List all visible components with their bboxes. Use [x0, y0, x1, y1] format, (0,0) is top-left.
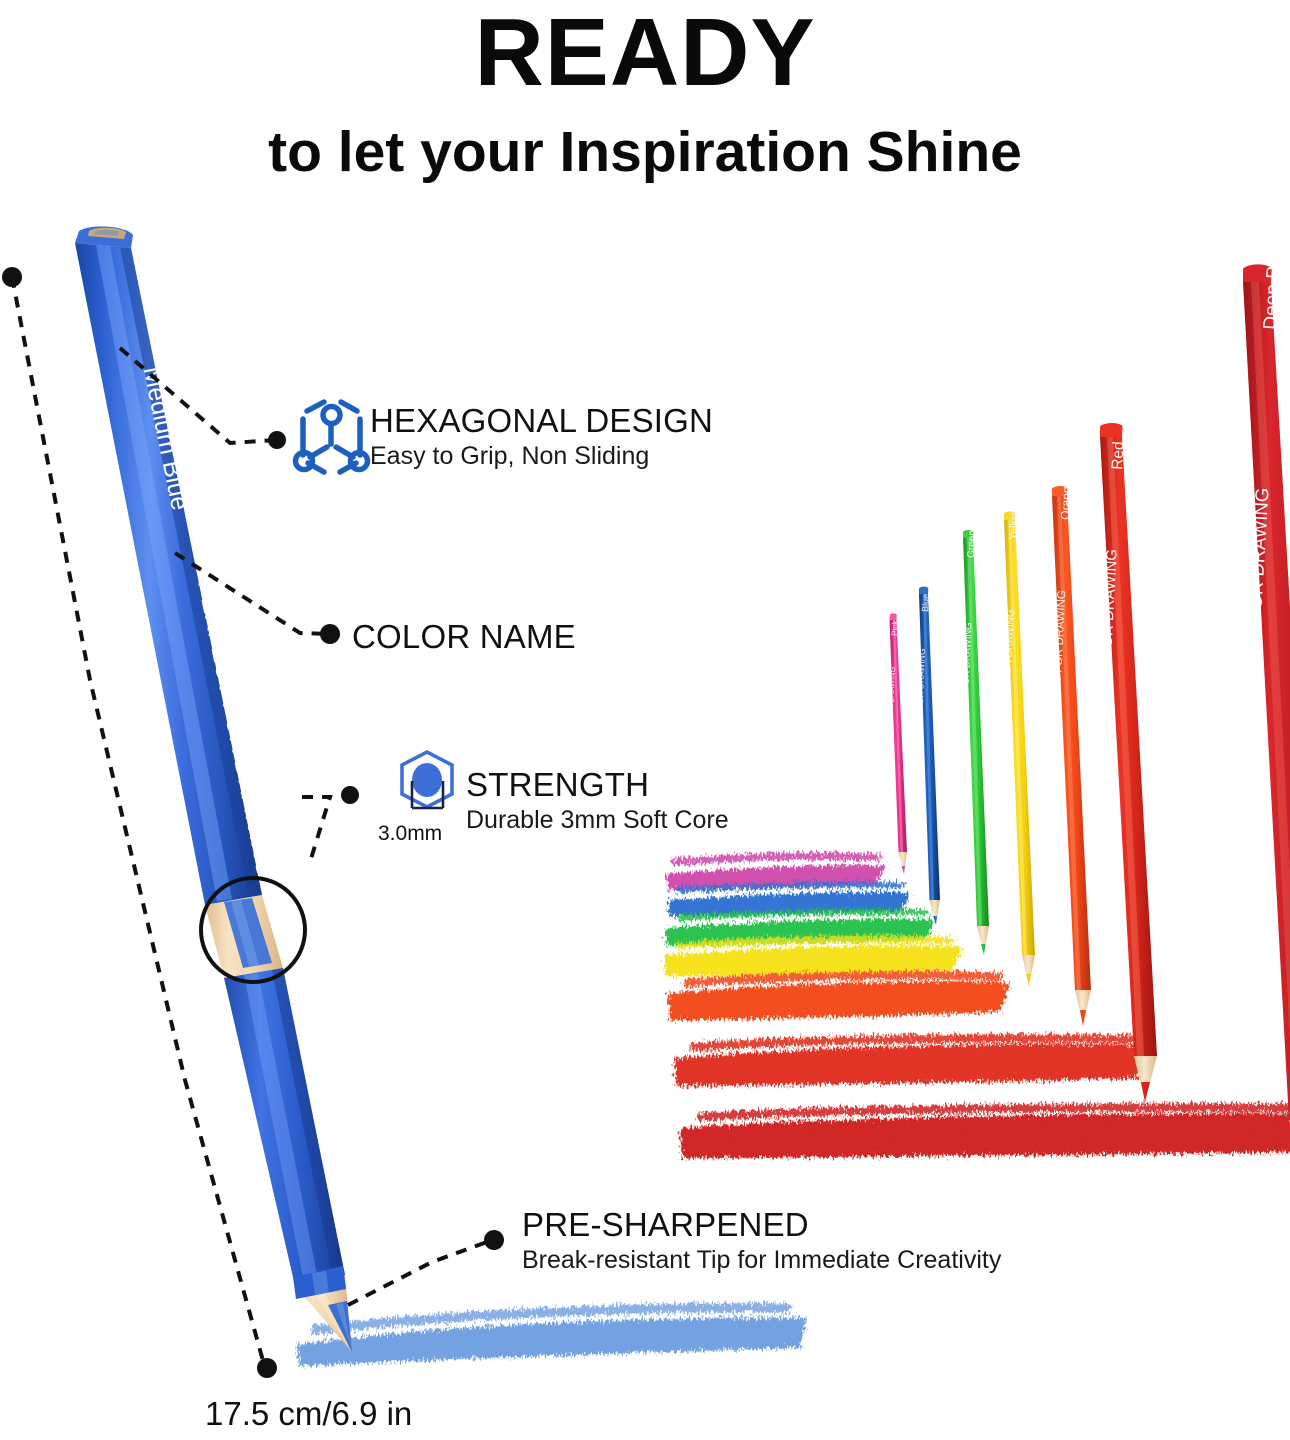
callout-pre-sharpened: PRE-SHARPENED Break-resistant Tip for Im…	[522, 1208, 1001, 1274]
pencil-colorname-deep-peach-red: Deep Peach Red	[1260, 185, 1290, 331]
pencil-colorname-pink: Pink	[890, 619, 900, 636]
callout-subtitle: Durable 3mm Soft Core	[466, 806, 729, 835]
callout-title: HEXAGONAL DESIGN	[370, 404, 713, 439]
pencil-colorname-green: Green	[966, 530, 978, 558]
hexagon-molecule-icon	[296, 402, 368, 472]
dot-strength	[341, 786, 359, 804]
leader-strength	[302, 797, 330, 862]
pencil-yellow: PERFECT FOR DRAWING Yellow	[1000, 509, 1035, 986]
callout-subtitle: Easy to Grip, Non Sliding	[370, 442, 713, 471]
pencil-colorname-yellow: Yellow	[1007, 509, 1020, 540]
callout-strength: STRENGTH Durable 3mm Soft Core	[466, 768, 729, 834]
pencil-green: PERFECT FOR DRAWING Green	[959, 530, 989, 955]
pencil-pink: PERFECT FOR DRAWING Pink	[884, 613, 907, 874]
callout-title: STRENGTH	[466, 768, 729, 803]
callout-subtitle: Break-resistant Tip for Immediate Creati…	[522, 1246, 1001, 1275]
leader-pre-sharpened	[348, 1242, 487, 1305]
callout-color-name: COLOR NAME	[352, 620, 576, 655]
dot-hexagonal-design	[268, 431, 286, 449]
pencil-length-label: 17.5 cm/6.9 in	[205, 1395, 412, 1433]
hexagon-core-icon	[402, 752, 452, 808]
callout-hexagonal-design: HEXAGONAL DESIGN Easy to Grip, Non Slidi…	[370, 404, 713, 470]
pencil-colorname-blue: Blue	[920, 594, 931, 612]
pencil-orange-red: PERFECT FOR DRAWING Orange Red	[1050, 454, 1091, 1026]
callout-title: COLOR NAME	[352, 620, 576, 655]
dot-color-name	[320, 624, 340, 644]
pencil-deep-peach-red: PERFECT FOR DRAWING Deep Peach Red	[1238, 185, 1290, 1175]
core-size-label: 3.0mm	[378, 822, 442, 846]
dot-pre-sharpened	[484, 1230, 504, 1250]
pencil-red: PERFECT FOR DRAWING Red	[1094, 423, 1157, 1102]
dot-length-top	[2, 267, 22, 287]
core-dot	[412, 763, 442, 797]
callout-title: PRE-SHARPENED	[522, 1208, 1001, 1243]
pencil-colorname-red: Red	[1109, 441, 1127, 470]
dot-length-bottom	[257, 1358, 277, 1378]
infographic-canvas: READY to let your Inspiration Shine	[0, 0, 1290, 1440]
pencil-blue-small: PERFECT FOR DRAWING Blue	[913, 587, 940, 925]
pencil-colorname-orange-red: Orange Red	[1058, 454, 1075, 520]
